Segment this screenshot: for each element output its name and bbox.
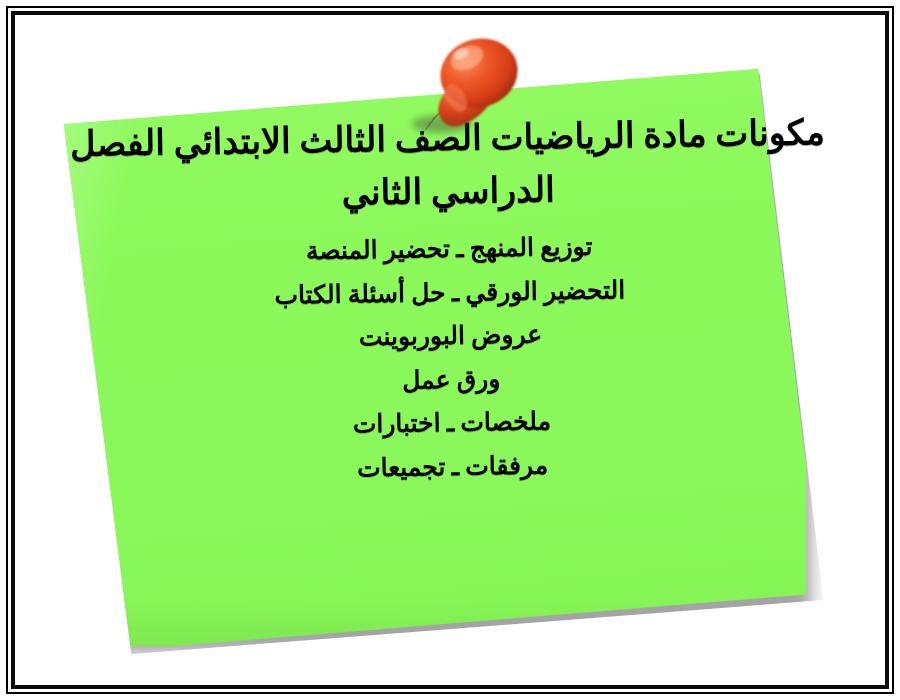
poster-page: مكونات مادة الرياضيات الصف الثالث الابتد… — [0, 0, 900, 700]
page-title-line-2: الدراسي الثاني — [341, 171, 555, 213]
components-list: توزيع المنهج ـ تحضير المنصة التحضير الور… — [29, 222, 873, 496]
poster-canvas: مكونات مادة الرياضيات الصف الثالث الابتد… — [16, 16, 884, 684]
note-text-block: مكونات مادة الرياضيات الصف الثالث الابتد… — [27, 105, 873, 496]
red-pushpin-icon — [384, 28, 534, 148]
